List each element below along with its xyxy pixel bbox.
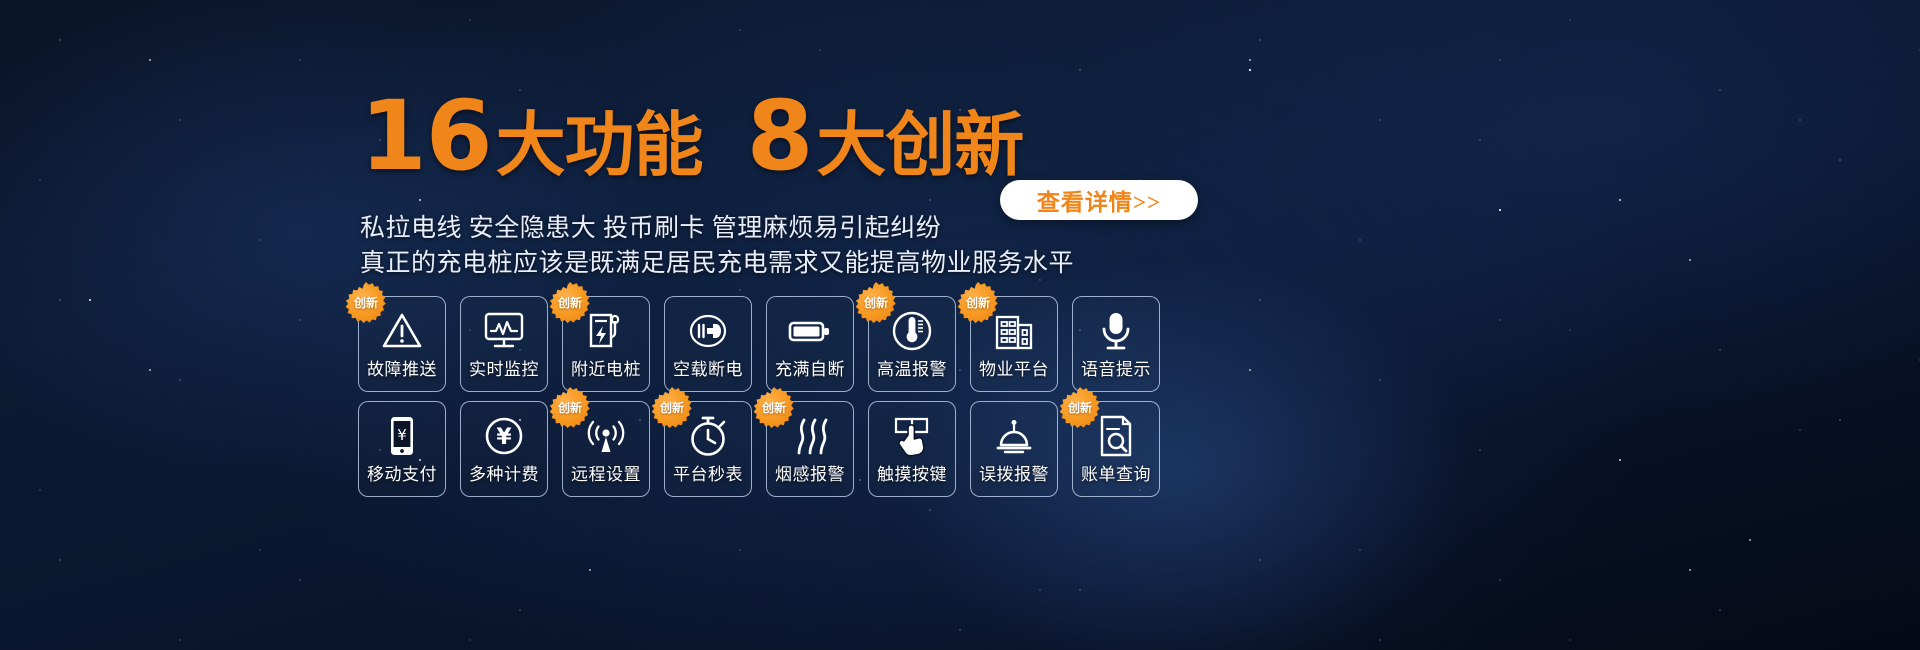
promo-banner: 16 大功能 8 大创新 私拉电线 安全隐患大 投币刷卡 管理麻烦易引起纠纷 真… (0, 0, 1920, 650)
innovation-badge-label: 创新 (558, 399, 582, 416)
feature-label: 账单查询 (1081, 466, 1151, 483)
feature-label: 实时监控 (469, 361, 539, 378)
innovation-badge-label: 创新 (1068, 399, 1092, 416)
plug-disconnect-icon (665, 303, 751, 359)
feature-row-1: 创新 故障推送 实时监控 创新 附近电桩 (358, 296, 1160, 392)
monitor-waveform-icon (461, 303, 547, 359)
mobile-payment-icon: ¥ (359, 408, 445, 464)
feature-label: 物业平台 (979, 361, 1049, 378)
svg-text:¥: ¥ (496, 425, 512, 450)
feature-tile-auto-cutoff-full[interactable]: 充满自断 (766, 296, 854, 392)
feature-tile-platform-stopwatch[interactable]: 创新 平台秒表 (664, 401, 752, 497)
feature-label: 远程设置 (571, 466, 641, 483)
feature-tile-nearby-pile[interactable]: 创新 附近电桩 (562, 296, 650, 392)
feature-label: 充满自断 (775, 361, 845, 378)
feature-label: 空载断电 (673, 361, 743, 378)
feature-label: 语音提示 (1081, 361, 1151, 378)
feature-row-2: ¥ 移动支付 ¥ 多种计费 创新 远程设置 创新 (358, 401, 1160, 497)
feature-grid: 创新 故障推送 实时监控 创新 附近电桩 (358, 296, 1160, 497)
feature-label: 移动支付 (367, 466, 437, 483)
innovation-badge-label: 创新 (660, 399, 684, 416)
headline: 16 大功能 8 大创新 (360, 92, 1023, 180)
feature-tile-bill-query[interactable]: 创新 账单查询 (1072, 401, 1160, 497)
yuan-coin-icon: ¥ (461, 408, 547, 464)
headline-innovation-label: 大创新 (816, 110, 1023, 180)
feature-label: 烟感报警 (775, 466, 845, 483)
feature-tile-realtime-monitor[interactable]: 实时监控 (460, 296, 548, 392)
feature-tile-voice-prompt[interactable]: 语音提示 (1072, 296, 1160, 392)
headline-function-count: 16 (360, 92, 492, 180)
innovation-badge-label: 创新 (558, 294, 582, 311)
feature-tile-high-temp-alarm[interactable]: 创新 高温报警 (868, 296, 956, 392)
subtitle-line-1: 私拉电线 安全隐患大 投币刷卡 管理麻烦易引起纠纷 (360, 208, 941, 244)
battery-full-icon (767, 303, 853, 359)
feature-label: 高温报警 (877, 361, 947, 378)
innovation-badge-label: 创新 (966, 294, 990, 311)
touch-hand-icon (869, 408, 955, 464)
alarm-bell-icon (971, 408, 1057, 464)
feature-label: 故障推送 (367, 361, 437, 378)
feature-label: 触摸按键 (877, 466, 947, 483)
innovation-badge-label: 创新 (864, 294, 888, 311)
feature-label: 平台秒表 (673, 466, 743, 483)
feature-label: 多种计费 (469, 466, 539, 483)
feature-tile-touch-key[interactable]: 触摸按键 (868, 401, 956, 497)
feature-tile-misdial-alarm[interactable]: 误拨报警 (970, 401, 1058, 497)
feature-tile-property-platform[interactable]: 创新 物业平台 (970, 296, 1058, 392)
feature-tile-mobile-payment[interactable]: ¥ 移动支付 (358, 401, 446, 497)
microphone-icon (1073, 303, 1159, 359)
feature-tile-fault-push[interactable]: 创新 故障推送 (358, 296, 446, 392)
feature-tile-remote-setting[interactable]: 创新 远程设置 (562, 401, 650, 497)
subtitle-line-2: 真正的充电桩应该是既满足居民充电需求又能提高物业服务水平 (360, 243, 1074, 279)
feature-tile-multi-billing[interactable]: ¥ 多种计费 (460, 401, 548, 497)
feature-label: 误拨报警 (979, 466, 1049, 483)
innovation-badge-label: 创新 (762, 399, 786, 416)
feature-tile-idle-cutoff[interactable]: 空载断电 (664, 296, 752, 392)
innovation-badge-label: 创新 (354, 294, 378, 311)
headline-function-label: 大功能 (496, 110, 703, 180)
headline-innovation-count: 8 (747, 92, 813, 180)
feature-label: 附近电桩 (571, 361, 641, 378)
feature-tile-smoke-alarm[interactable]: 创新 烟感报警 (766, 401, 854, 497)
svg-text:¥: ¥ (397, 426, 407, 444)
view-details-button[interactable]: 查看详情>> (1000, 180, 1198, 220)
